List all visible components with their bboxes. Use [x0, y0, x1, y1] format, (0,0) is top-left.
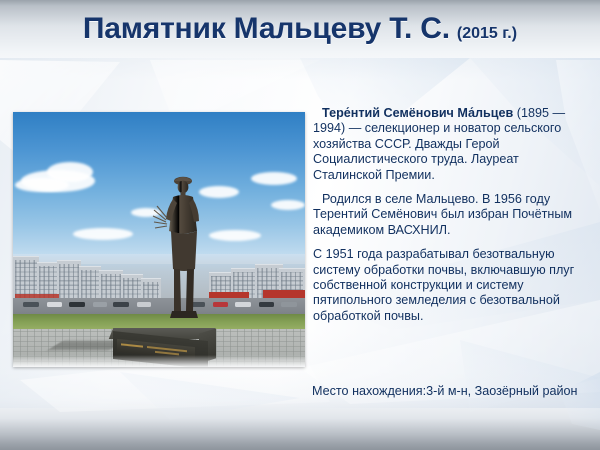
slide: Памятник Мальцеву Т. С. (2015 г.) — [0, 0, 600, 450]
biography-paragraph-2: Родился в селе Мальцево. В 1956 году Тер… — [313, 192, 585, 238]
apartment-building — [57, 260, 81, 301]
car — [137, 302, 151, 307]
cloud-shape — [271, 200, 305, 210]
car — [113, 302, 129, 307]
apartment-building — [79, 266, 101, 301]
biography-paragraph-3-text: С 1951 года разрабатывал безотвальную си… — [313, 247, 574, 323]
car — [281, 302, 297, 307]
car — [259, 302, 274, 307]
location-text: Место нахождения:3-й м-н, Заозёрный райо… — [312, 384, 577, 398]
car — [23, 302, 39, 307]
car — [93, 302, 107, 307]
cloud-shape — [73, 228, 133, 240]
biography-text-block: Тере́нтий Семёнович Ма́льцев (1895 — 199… — [313, 106, 585, 333]
title-year-text: (2015 г.) — [457, 25, 517, 43]
cloud-shape — [15, 178, 69, 192]
biography-paragraph-2-text: Родился в селе Мальцево. В 1956 году Тер… — [313, 192, 572, 237]
photo-bottom-fade — [13, 355, 305, 367]
title-main-text: Памятник Мальцеву Т. С. — [83, 12, 450, 46]
cloud-shape — [251, 172, 297, 185]
person-name-bold: Тере́нтий Семёнович Ма́льцев — [322, 106, 513, 120]
location-line: Место нахождения:3-й м-н, Заозёрный райо… — [310, 384, 592, 399]
cloud-shape — [209, 230, 261, 241]
biography-paragraph-1: Тере́нтий Семёнович Ма́льцев (1895 — 199… — [313, 106, 585, 183]
monument-photo — [13, 112, 305, 367]
car — [69, 302, 85, 307]
car — [235, 302, 251, 307]
apartment-building — [121, 274, 143, 301]
bronze-statue-figure — [152, 170, 216, 340]
apartment-building — [99, 270, 123, 301]
car — [47, 302, 62, 307]
biography-paragraph-3: С 1951 года разрабатывал безотвальную си… — [313, 247, 585, 324]
slide-title: Памятник Мальцеву Т. С. (2015 г.) — [0, 12, 600, 60]
